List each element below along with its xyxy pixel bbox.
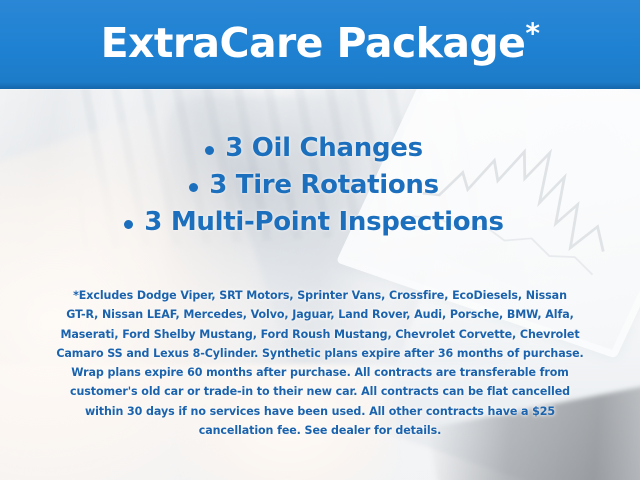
bullet-point-icon — [205, 146, 214, 155]
disclaimer-line: *Excludes Dodge Viper, SRT Motors, Sprin… — [26, 286, 614, 305]
extracare-package-promo-card: ExtraCare Package* 3 Oil Changes 3 Tire … — [0, 0, 640, 480]
header-banner: ExtraCare Package* — [0, 0, 640, 89]
list-item: 3 Multi-Point Inspections — [124, 208, 503, 237]
disclaimer-line: Wrap plans expire 60 months after purcha… — [26, 363, 614, 382]
disclaimer-line: within 30 days if no services have been … — [26, 402, 614, 421]
benefit-label-oil-changes: 3 Oil Changes — [225, 134, 423, 163]
page-title-text: ExtraCare Package — [101, 19, 526, 67]
list-item: 3 Tire Rotations — [189, 171, 439, 200]
disclaimer-line: Camaro SS and Lexus 8-Cylinder. Syntheti… — [26, 344, 614, 363]
page-title: ExtraCare Package* — [101, 23, 540, 64]
disclaimer-line: customer's old car or trade-in to their … — [26, 382, 614, 401]
bullet-point-icon — [189, 183, 198, 192]
benefits-list: 3 Oil Changes 3 Tire Rotations 3 Multi-P… — [0, 134, 640, 245]
disclaimer-line: Maserati, Ford Shelby Mustang, Ford Rous… — [26, 325, 614, 344]
bullet-point-icon — [124, 220, 133, 229]
disclaimer-line: cancellation fee. See dealer for details… — [26, 421, 614, 440]
disclaimer-line: GT-R, Nissan LEAF, Mercedes, Volvo, Jagu… — [26, 305, 614, 324]
disclaimer-text: *Excludes Dodge Viper, SRT Motors, Sprin… — [26, 286, 614, 440]
page-title-asterisk: * — [525, 16, 539, 49]
benefit-label-tire-rotations: 3 Tire Rotations — [209, 171, 439, 200]
list-item: 3 Oil Changes — [205, 134, 423, 163]
benefit-label-multi-point-inspections: 3 Multi-Point Inspections — [144, 208, 503, 237]
